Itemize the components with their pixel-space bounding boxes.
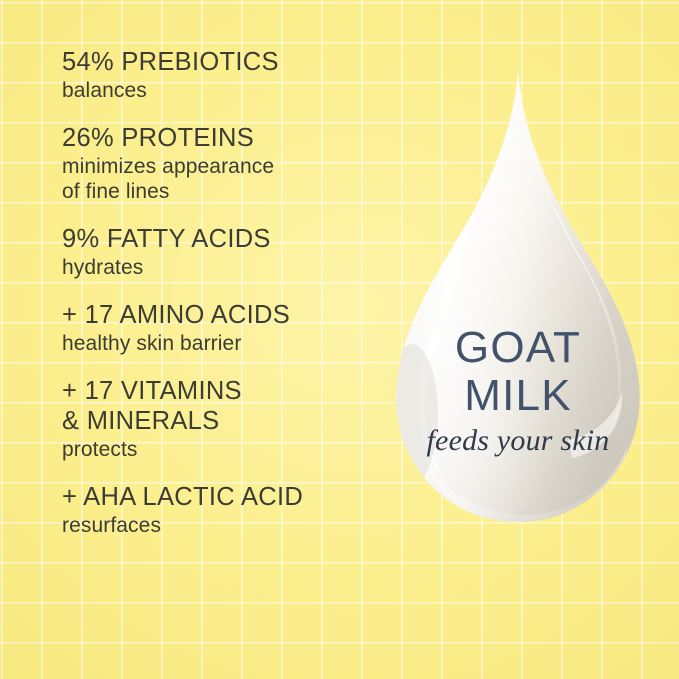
benefit-description: resurfaces bbox=[62, 513, 382, 538]
benefit-item: 26% PROTEINS minimizes appearance of fin… bbox=[62, 123, 382, 204]
benefit-title: + 17 VITAMINS & MINERALS bbox=[62, 376, 382, 436]
benefit-item: 9% FATTY ACIDS hydrates bbox=[62, 224, 382, 280]
benefits-list: 54% PREBIOTICS balances 26% PROTEINS min… bbox=[62, 47, 382, 538]
droplet-shading bbox=[372, 62, 664, 554]
benefit-description: balances bbox=[62, 78, 382, 103]
milk-droplet-graphic: GOAT MILK feeds your skin bbox=[372, 62, 664, 554]
benefit-item: 54% PREBIOTICS balances bbox=[62, 47, 382, 103]
benefit-title: + AHA LACTIC ACID bbox=[62, 482, 382, 512]
benefit-item: + AHA LACTIC ACID resurfaces bbox=[62, 482, 382, 538]
benefit-title: 54% PREBIOTICS bbox=[62, 47, 382, 77]
benefit-description: healthy skin barrier bbox=[62, 331, 382, 356]
benefit-title: 26% PROTEINS bbox=[62, 123, 382, 153]
goat-milk-infographic: 54% PREBIOTICS balances 26% PROTEINS min… bbox=[0, 0, 679, 679]
droplet-left-shadow bbox=[386, 344, 438, 484]
benefit-description: protects bbox=[62, 437, 382, 462]
benefit-title: + 17 AMINO ACIDS bbox=[62, 300, 382, 330]
benefit-description: hydrates bbox=[62, 255, 382, 280]
benefit-description: minimizes appearance of fine lines bbox=[62, 154, 382, 204]
benefit-title: 9% FATTY ACIDS bbox=[62, 224, 382, 254]
benefit-item: + 17 VITAMINS & MINERALS protects bbox=[62, 376, 382, 462]
milk-droplet-icon bbox=[372, 62, 664, 554]
benefit-item: + 17 AMINO ACIDS healthy skin barrier bbox=[62, 300, 382, 356]
